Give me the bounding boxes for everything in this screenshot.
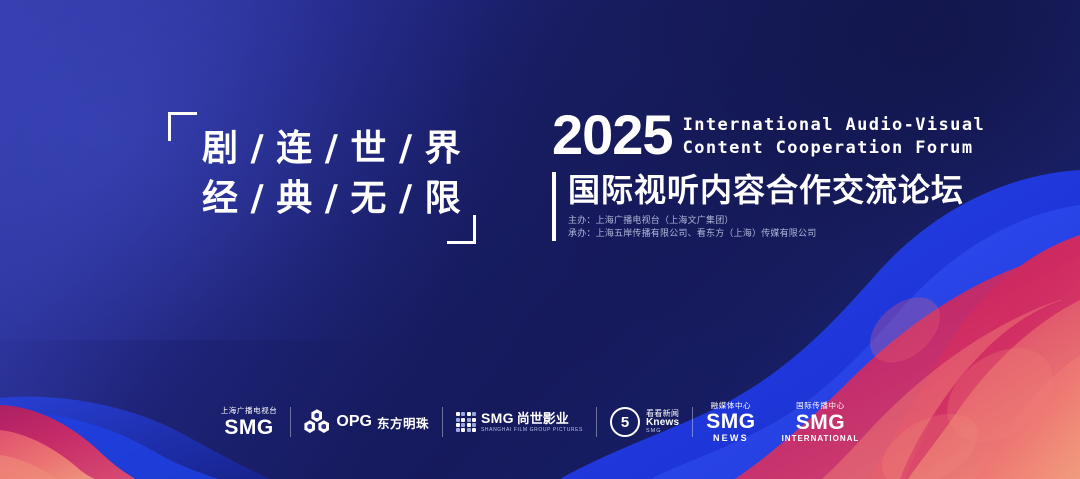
logo-smg-international-sub: INTERNATIONAL bbox=[782, 435, 860, 443]
english-title-line-2: Content Cooperation Forum bbox=[683, 137, 986, 160]
sponsor-logo-bar: 上海广播电视台 SMG OPG 东方明珠 S bbox=[0, 402, 1080, 444]
logo-opg-mark: OPG bbox=[336, 413, 372, 431]
logo-smg-international-wordmark: SMG bbox=[796, 412, 845, 433]
logo-opg: OPG 东方明珠 bbox=[291, 409, 442, 435]
english-title-line-1: International Audio-Visual bbox=[683, 114, 986, 137]
logo-smg-international-chinese: 国际传播中心 bbox=[796, 402, 845, 410]
slogan-block: 剧 / 连 / 世 / 界 经 / 典 / 无 / 限 bbox=[168, 112, 476, 244]
logo-kankanews: 5 看看新闻 Knews SMG bbox=[597, 407, 692, 437]
forum-key-visual-banner: 剧 / 连 / 世 / 界 经 / 典 / 无 / 限 2025 Interna… bbox=[0, 0, 1080, 479]
slogan-line-1: 剧 / 连 / 世 / 界 bbox=[202, 124, 461, 174]
title-row-year-english: 2025 International Audio-Visual Content … bbox=[552, 108, 952, 162]
logo-smg-news-chinese: 融媒体中心 bbox=[711, 402, 752, 410]
logo-smg-chinese: 上海广播电视台 bbox=[221, 407, 278, 415]
title-accent-bar bbox=[552, 172, 556, 241]
logo-smg-pictures-chinese: 尚世影业 bbox=[517, 413, 569, 426]
logo-kankanews-sub: SMG bbox=[646, 429, 679, 435]
organizer-credits: 主办：上海广播电视台（上海文广集团） 承办：上海五岸传播有限公司、看东方（上海）… bbox=[568, 215, 964, 241]
chinese-title: 国际视听内容合作交流论坛 bbox=[568, 172, 964, 208]
logo-smg-pictures-wordmark: SMG bbox=[481, 411, 514, 425]
organizer-line-1: 主办：上海广播电视台（上海文广集团） bbox=[568, 215, 964, 228]
organizer-line-2: 承办：上海五岸传播有限公司、看东方（上海）传媒有限公司 bbox=[568, 228, 964, 241]
title-row-chinese: 国际视听内容合作交流论坛 主办：上海广播电视台（上海文广集团） 承办：上海五岸传… bbox=[552, 172, 952, 241]
logo-smg-pictures-english: SHANGHAI FILM GROUP PICTURES bbox=[481, 428, 583, 433]
logo-smg-pictures: SMG 尚世影业 SHANGHAI FILM GROUP PICTURES bbox=[443, 411, 596, 433]
logo-smg-news: 融媒体中心 SMG NEWS bbox=[693, 402, 768, 444]
dot-matrix-icon bbox=[456, 412, 476, 432]
logo-smg-international: 国际传播中心 SMG INTERNATIONAL bbox=[769, 402, 873, 443]
kankanews-five-icon: 5 bbox=[610, 407, 640, 437]
english-title: International Audio-Visual Content Coope… bbox=[683, 114, 986, 162]
slogan-lines: 剧 / 连 / 世 / 界 经 / 典 / 无 / 限 bbox=[202, 124, 461, 224]
logo-smg: 上海广播电视台 SMG bbox=[208, 407, 291, 438]
slogan-line-2: 经 / 典 / 无 / 限 bbox=[202, 174, 461, 224]
chinese-title-wrap: 国际视听内容合作交流论坛 主办：上海广播电视台（上海文广集团） 承办：上海五岸传… bbox=[568, 172, 964, 241]
logo-smg-news-sub: NEWS bbox=[713, 434, 749, 443]
logo-opg-chinese: 东方明珠 bbox=[377, 413, 429, 432]
logo-smg-news-wordmark: SMG bbox=[706, 411, 755, 432]
bracket-top-left-icon bbox=[168, 112, 197, 141]
title-block: 2025 International Audio-Visual Content … bbox=[552, 108, 952, 241]
year-label: 2025 bbox=[552, 108, 673, 162]
logo-smg-wordmark: SMG bbox=[224, 417, 273, 438]
opg-hexagon-icon bbox=[304, 409, 330, 435]
